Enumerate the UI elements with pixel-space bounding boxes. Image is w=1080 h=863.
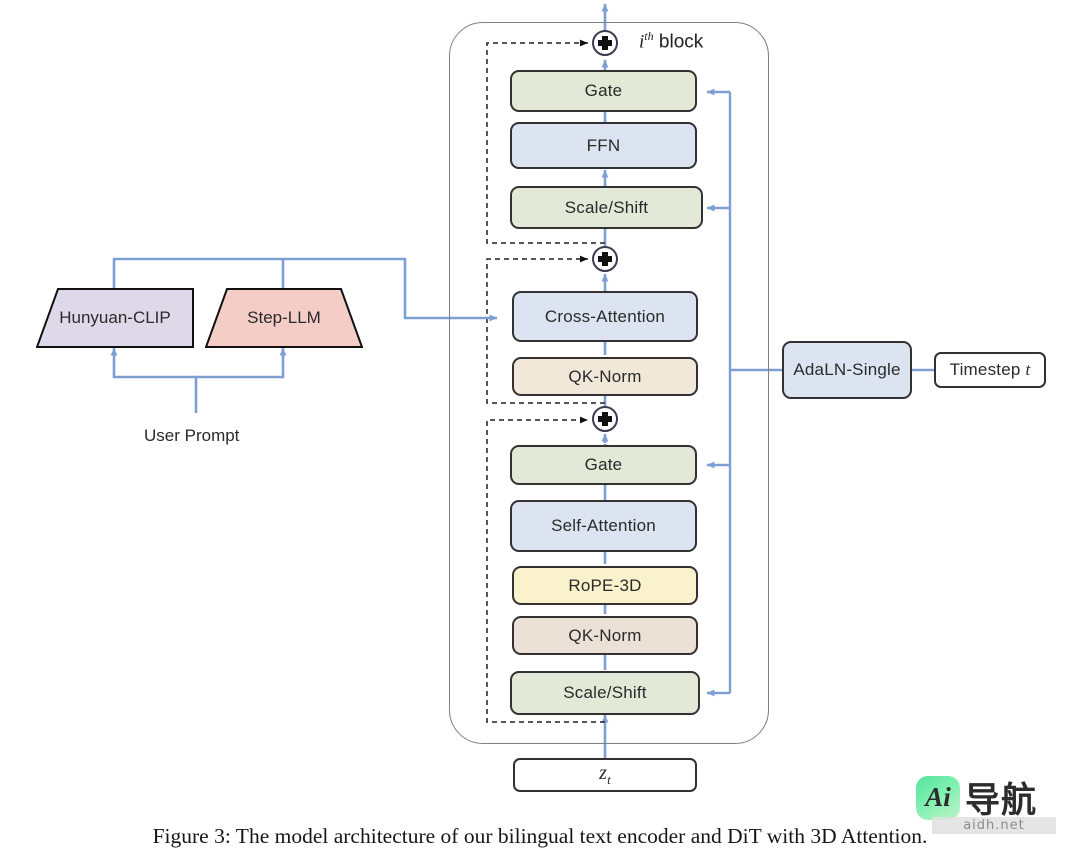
self-attention-box[interactable]: Self-Attention [510,500,697,552]
gate-self-attention-label: Gate [585,455,623,475]
step-llm-label: Step-LLM [247,308,321,328]
gate-self-attention-box[interactable]: Gate [510,445,697,485]
ffn-box[interactable]: FFN [510,122,697,169]
adaln-single-label: AdaLN-Single [793,360,900,380]
gate-ffn-box[interactable]: Gate [510,70,697,112]
timestep-label: Timestep t [950,360,1031,380]
ith-block-label: ith block [639,29,703,53]
gate-ffn-label: Gate [585,81,623,101]
prompt-fanout [114,348,283,413]
qk-norm-cross-label: QK-Norm [568,367,641,387]
scale-shift-ffn-box[interactable]: Scale/Shift [510,186,703,229]
scale-shift-ffn-label: Scale/Shift [565,198,648,218]
scale-shift-self-label: Scale/Shift [563,683,646,703]
step-llm-node[interactable]: Step-LLM [205,288,363,348]
hunyuan-clip-label: Hunyuan-CLIP [59,308,171,328]
user-prompt-label: User Prompt [144,426,239,446]
self-attention-label: Self-Attention [551,516,656,536]
figure-canvas: ith block Gate FFN Scale/Shift Cross-Att… [0,0,1080,863]
watermark: Ai 导航 aidh.net [916,772,1072,834]
latent-input-label: zt [599,762,611,788]
watermark-brand-text: 导航 [965,772,1037,823]
timestep-box[interactable]: Timestep t [934,352,1046,388]
cross-attention-label: Cross-Attention [545,307,665,327]
qk-norm-self-box[interactable]: QK-Norm [512,616,698,655]
qk-norm-cross-box[interactable]: QK-Norm [512,357,698,396]
residual-add-self-attention [592,406,618,432]
watermark-ai-badge: Ai [916,776,960,820]
qk-norm-self-label: QK-Norm [568,626,641,646]
residual-add-cross-attention [592,246,618,272]
residual-add-ffn [592,30,618,56]
adaln-single-box[interactable]: AdaLN-Single [782,341,912,399]
ffn-label: FFN [587,136,621,156]
latent-input-box[interactable]: zt [513,758,697,792]
rope-3d-box[interactable]: RoPE-3D [512,566,698,605]
cross-attention-box[interactable]: Cross-Attention [512,291,698,342]
scale-shift-self-box[interactable]: Scale/Shift [510,671,700,715]
watermark-url: aidh.net [932,817,1056,834]
watermark-logo-row: Ai 导航 [916,772,1037,823]
hunyuan-clip-node[interactable]: Hunyuan-CLIP [36,288,194,348]
rope-3d-label: RoPE-3D [568,576,641,596]
